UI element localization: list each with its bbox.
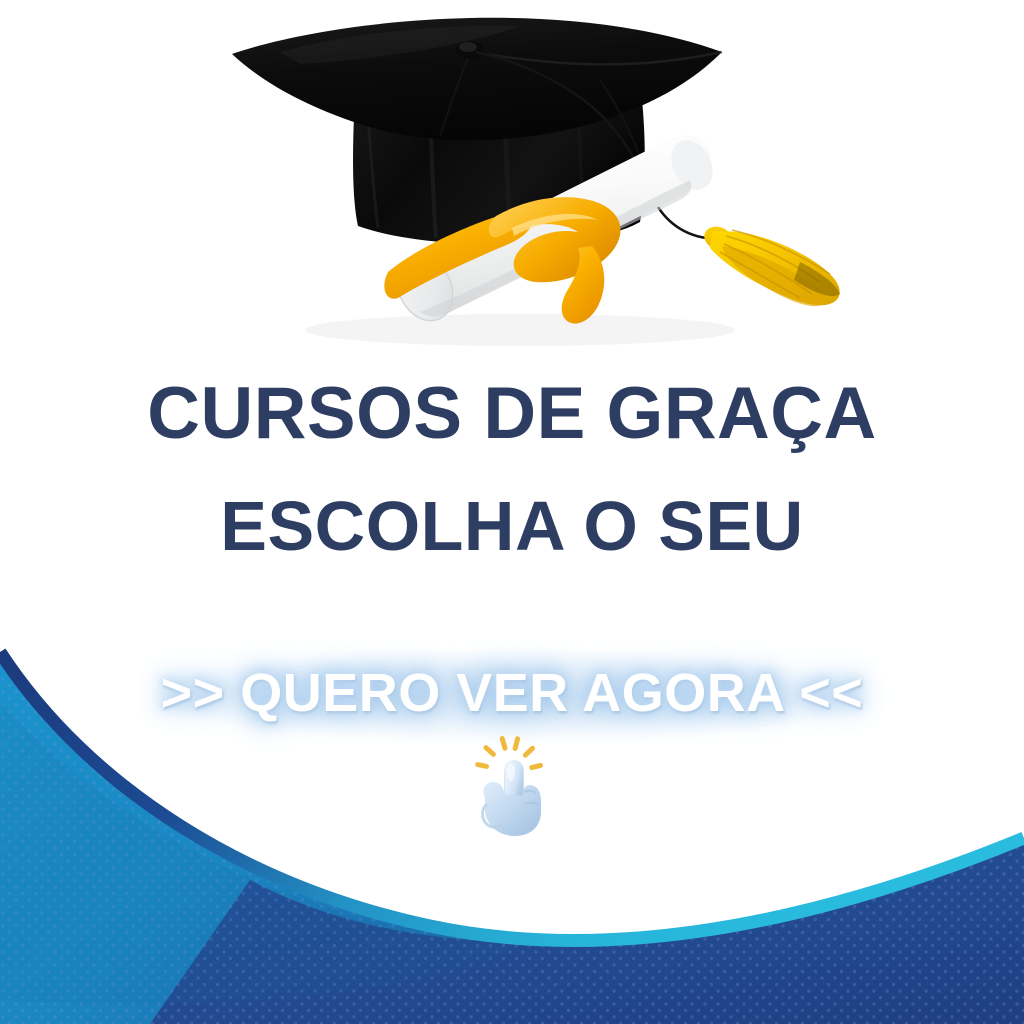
graduation-cap-board (232, 18, 722, 141)
headline-line-2: ESCOLHA O SEU (0, 470, 1024, 582)
cta-block[interactable]: >> QUERO VER AGORA << (0, 660, 1024, 842)
graduation-artwork (0, 0, 1024, 380)
wave-right-navy (150, 846, 1024, 1024)
cta-label[interactable]: >> QUERO VER AGORA << (161, 660, 864, 726)
headline-line-1: CURSOS DE GRAÇA (0, 358, 1024, 470)
pointing-hand-click-icon[interactable] (457, 732, 567, 842)
promo-poster: CURSOS DE GRAÇA ESCOLHA O SEU >> QUERO V… (0, 0, 1024, 1024)
headline-block: CURSOS DE GRAÇA ESCOLHA O SEU (0, 358, 1024, 582)
graduation-tassel (701, 223, 840, 306)
